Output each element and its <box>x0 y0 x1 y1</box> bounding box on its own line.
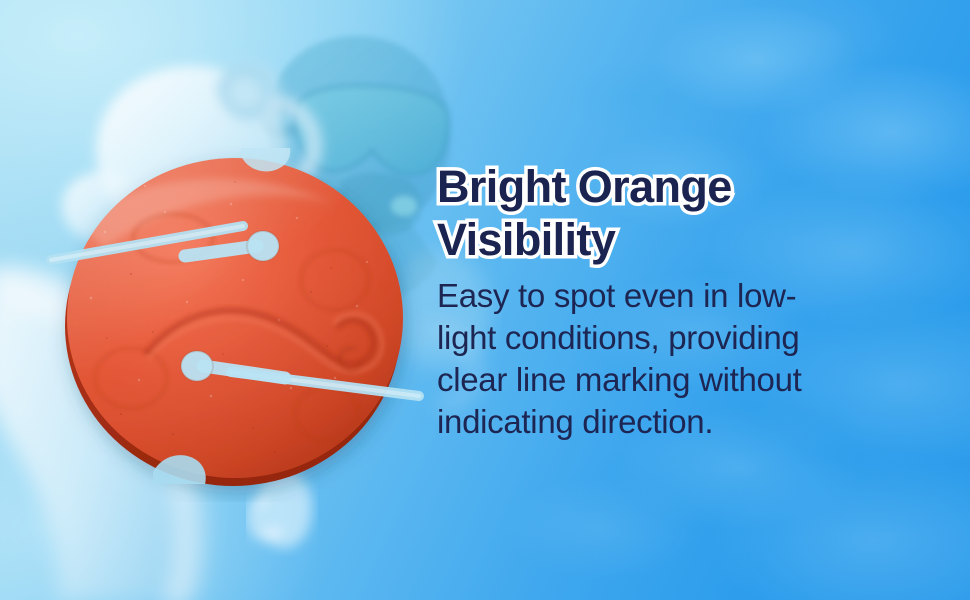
body-line-3: clear line marking without <box>437 359 937 401</box>
headline-line-1: Bright Orange <box>437 160 937 213</box>
body-line-4: indicating direction. <box>437 401 937 443</box>
product-feature-banner: Bright Orange Visibility Easy to spot ev… <box>0 0 970 600</box>
body-line-1: Easy to spot even in low- <box>437 275 937 317</box>
dive-line-marker-disc <box>35 142 435 502</box>
disc-face <box>35 158 407 478</box>
page-title: Bright Orange Visibility <box>437 160 937 266</box>
copy-block: Bright Orange Visibility Easy to spot ev… <box>437 160 937 443</box>
body-description: Easy to spot even in low- light conditio… <box>437 275 937 443</box>
body-line-2: light conditions, providing <box>437 317 937 359</box>
headline-line-2: Visibility <box>437 213 937 266</box>
